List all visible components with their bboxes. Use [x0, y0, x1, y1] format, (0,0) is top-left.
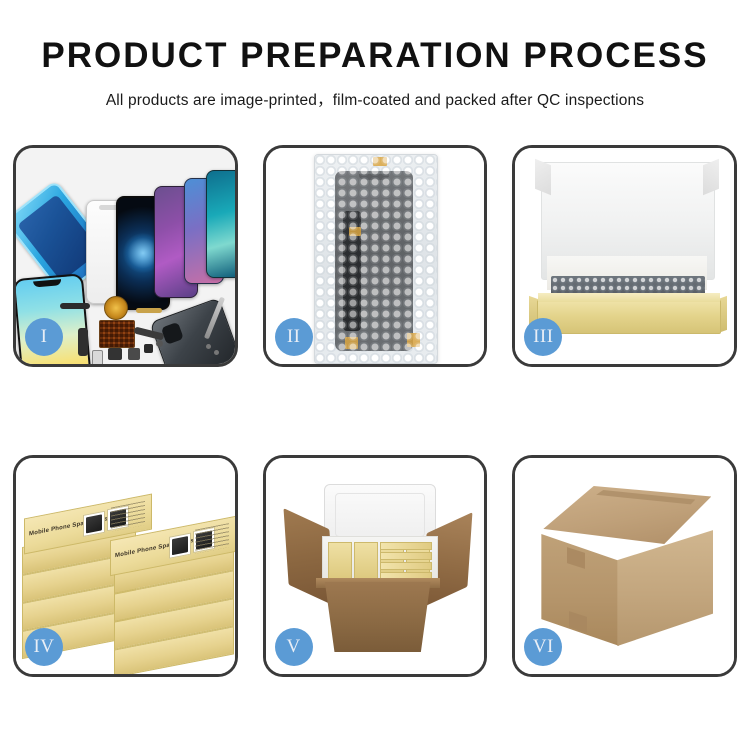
button-part	[156, 340, 163, 347]
teal-phone-screen	[206, 170, 235, 278]
bubble-texture-overlay	[315, 155, 437, 363]
product-preparation-infographic: PRODUCT PREPARATION PROCESS All products…	[0, 0, 750, 750]
lid-window-1	[83, 511, 105, 537]
lid-spec-lines-2	[195, 523, 229, 554]
carton-front-panel	[318, 582, 438, 652]
yellow-box-item	[328, 542, 352, 580]
step-badge-1: I	[25, 318, 63, 356]
screw-part-1	[206, 344, 211, 349]
flex-cable-part-2	[136, 308, 162, 313]
step-panel-2[interactable]: II	[263, 145, 488, 367]
kraft-box-base	[537, 300, 721, 334]
yellow-box-item	[380, 542, 432, 550]
camera-module-part	[108, 348, 122, 360]
screw-part-2	[214, 350, 219, 355]
lid-window-3	[169, 533, 191, 559]
process-grid: I	[13, 145, 737, 677]
yellow-box-item	[354, 542, 378, 580]
page-subtitle: All products are image-printed，film-coat…	[0, 88, 750, 110]
sim-tray-part	[92, 350, 103, 364]
yellow-boxes-horizontal	[380, 542, 432, 580]
step-badge-4: IV	[25, 628, 63, 666]
lid-flap-left	[535, 159, 551, 195]
step-panel-6[interactable]: VI	[512, 455, 737, 677]
page-title: PRODUCT PREPARATION PROCESS	[0, 38, 750, 75]
flex-cable-part-4	[78, 328, 88, 356]
step-panel-5[interactable]: V	[263, 455, 488, 677]
connector-part	[128, 348, 140, 360]
yellow-box-item	[380, 562, 432, 570]
speaker-coil-part	[104, 296, 128, 320]
circuit-board-part	[99, 320, 135, 348]
bubble-wrap-bag	[314, 154, 438, 364]
lid-flap-right	[703, 159, 719, 195]
step-panel-4[interactable]: Mobile Phone Spare Parts Mobile Phone Sp…	[13, 455, 238, 677]
process-row-1: I	[13, 145, 737, 367]
carton-right-face	[617, 530, 713, 646]
lid-spec-lines-1	[111, 501, 145, 532]
step-badge-2: II	[275, 318, 313, 356]
yellow-box-item	[380, 552, 432, 560]
step-panel-1[interactable]: I	[13, 145, 238, 367]
flex-cable-part-1	[60, 303, 90, 309]
step-panel-3[interactable]: III	[512, 145, 737, 367]
process-row-2: Mobile Phone Spare Parts Mobile Phone Sp…	[13, 455, 737, 677]
header: PRODUCT PREPARATION PROCESS All products…	[0, 0, 750, 110]
chip-part	[144, 344, 153, 353]
step-badge-5: V	[275, 628, 313, 666]
